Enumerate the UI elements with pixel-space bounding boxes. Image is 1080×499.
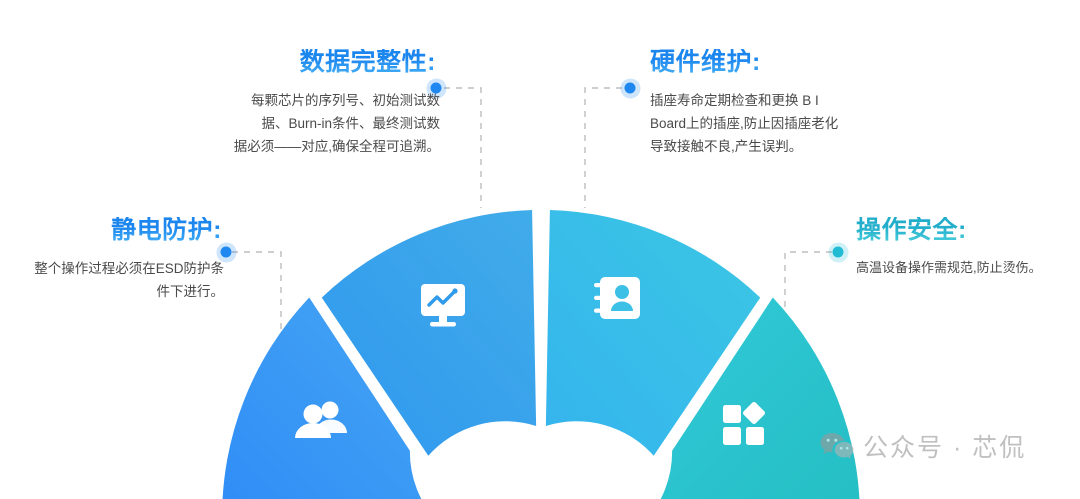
grid-blocks-diamond-icon: [723, 401, 766, 445]
connector-line-hardware: [585, 88, 622, 208]
segment-monitor-chart[interactable]: [322, 210, 536, 456]
connector-line-safety: [785, 252, 832, 352]
callout-title-safety: 操作安全:: [856, 217, 1080, 245]
donut-segments: [222, 210, 860, 499]
infographic-canvas: 数据完整性: 每颗芯片的序列号、初始测试数 据、Burn-in条件、最终测试数 …: [0, 0, 1080, 499]
monitor-chart-icon: [421, 284, 465, 327]
watermark: 公众号 · 芯侃: [820, 432, 1026, 465]
segment-contact-book[interactable]: [546, 210, 760, 456]
callout-title-esd: 静电防护:: [0, 217, 224, 245]
callout-hardware: 硬件维护: 插座寿命定期检查和更换 B I Board上的插座,防止因插座老化 …: [650, 49, 920, 158]
callout-safety: 操作安全: 高温设备操作需规范,防止烫伤。: [856, 217, 1080, 279]
callout-title-hardware: 硬件维护:: [650, 49, 920, 77]
segment-blocks[interactable]: [644, 298, 860, 499]
segment-icons: [295, 277, 766, 445]
wechat-icon: [820, 432, 854, 465]
callout-title-data-integrity: 数据完整性:: [180, 49, 440, 77]
segment-people[interactable]: [222, 298, 438, 499]
callout-body-hardware: 插座寿命定期检查和更换 B I Board上的插座,防止因插座老化 导致接触不良…: [650, 89, 920, 159]
people-group-icon: [295, 402, 347, 439]
connector-dot-hardware[interactable]: [625, 83, 636, 94]
callout-esd: 静电防护: 整个操作过程必须在ESD防护条 件下进行。: [0, 217, 224, 303]
connector-dot-safety[interactable]: [833, 247, 844, 258]
callout-body-data-integrity: 每颗芯片的序列号、初始测试数 据、Burn-in条件、最终测试数 据必须——对应…: [180, 89, 440, 159]
callout-body-safety: 高温设备操作需规范,防止烫伤。: [856, 257, 1080, 279]
callout-body-esd: 整个操作过程必须在ESD防护条 件下进行。: [0, 257, 224, 303]
callout-data-integrity: 数据完整性: 每颗芯片的序列号、初始测试数 据、Burn-in条件、最终测试数 …: [180, 49, 440, 158]
watermark-text: 公众号 · 芯侃: [863, 436, 1026, 461]
connector-line-data-integrity: [444, 88, 481, 208]
connector-line-esd: [232, 252, 281, 352]
address-book-icon: [594, 277, 640, 319]
